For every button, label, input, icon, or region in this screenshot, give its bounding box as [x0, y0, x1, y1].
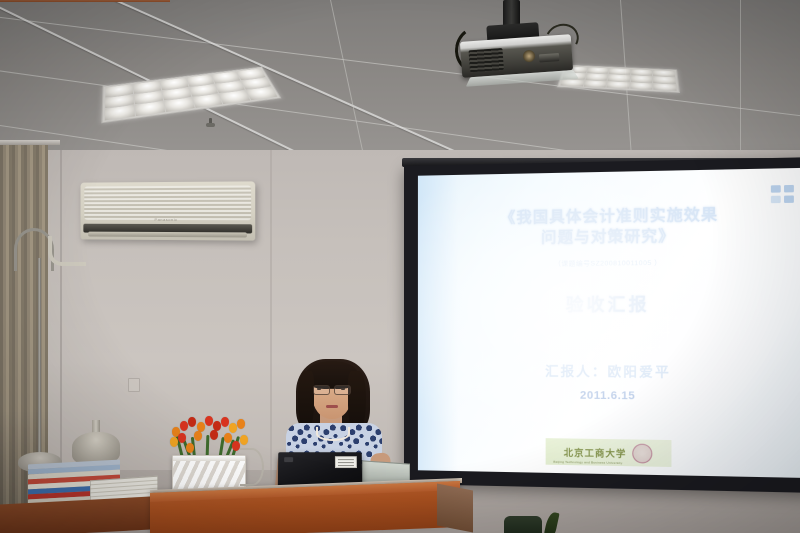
air-conditioner: Panasonic	[80, 181, 255, 240]
projection-screen: 《我国具体会计准则实施效果 问题与对策研究》 （课题编号SZ2008100110…	[404, 157, 800, 493]
screen-surface: 《我国具体会计准则实施效果 问题与对策研究》 （课题编号SZ2008100110…	[418, 168, 800, 478]
pearl-necklace	[316, 427, 350, 441]
slide-corner-squares-icon	[771, 185, 794, 203]
slide-title-line2: 问题与对策研究》	[541, 226, 675, 248]
sprinkler-icon	[206, 118, 215, 129]
projector-vent	[468, 48, 503, 72]
ceiling-light-fixture-left	[101, 67, 281, 124]
slide-date: 2011.6.15	[580, 390, 635, 403]
slide-presenter-line: 汇报人：欧阳爱平	[545, 361, 671, 381]
potted-plant	[500, 508, 590, 533]
plant-pot	[504, 516, 542, 533]
side-table-top	[0, 0, 170, 2]
projector-port	[539, 53, 560, 62]
eyeglasses-icon	[313, 385, 351, 393]
air-conditioner-grill	[84, 185, 251, 220]
air-conditioner-brand-label: Panasonic	[155, 217, 178, 222]
planter-handle	[240, 448, 264, 486]
air-conditioner-pipe	[48, 236, 86, 266]
air-conditioner-louver	[88, 232, 247, 238]
slide-heading: 验收汇报	[566, 290, 650, 316]
podium-side-panel	[437, 484, 473, 533]
asset-tag-sticker	[335, 456, 357, 468]
university-logo-text: 北京工商大学	[564, 445, 627, 459]
ceiling	[0, 0, 800, 172]
photo-scene: Panasonic 《我国具体会计准则实施效果 问题与对策研究》 （课题编号SZ…	[0, 0, 800, 533]
projector-lens-icon	[523, 50, 536, 63]
floor-lamp-pole	[30, 228, 46, 486]
slide-title-line1: 《我国具体会计准则实施效果	[500, 205, 718, 229]
slide-project-number: （课题编号SZ200810011005 ）	[554, 257, 661, 268]
hair-side-left	[298, 371, 314, 431]
university-seal-icon	[632, 443, 652, 463]
wall-corner-edge	[60, 150, 62, 510]
wall-power-socket[interactable]	[128, 378, 140, 392]
laptop-logo-icon	[284, 457, 293, 462]
presentation-slide: 《我国具体会计准则实施效果 问题与对策研究》 （课题编号SZ2008100110…	[418, 168, 800, 478]
university-logo-text-en: Beijing Technology and Business Universi…	[553, 460, 622, 465]
plant-leaf	[543, 511, 559, 533]
university-logo: 北京工商大学 Beijing Technology and Business U…	[545, 438, 671, 467]
mouth	[326, 405, 338, 408]
